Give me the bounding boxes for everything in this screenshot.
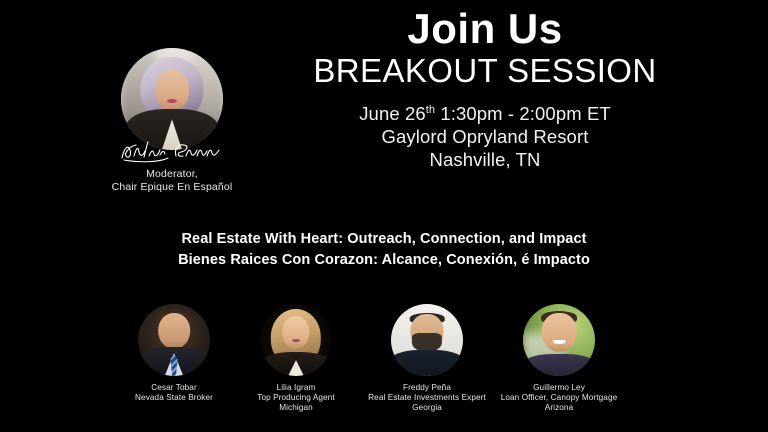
headline-join-us: Join Us — [255, 6, 715, 52]
event-time-range: 1:30pm - 2:00pm ET — [435, 103, 611, 124]
panelist-caption: Lilia Igram Top Producing Agent Michigan — [226, 383, 366, 414]
event-city-state: Nashville, TN — [255, 148, 715, 171]
panelist-avatar — [523, 304, 595, 376]
signature-hilda-garza — [96, 136, 248, 166]
moderator-role: Moderator, — [146, 168, 198, 180]
session-title-block: Real Estate With Heart: Outreach, Connec… — [64, 229, 704, 271]
panelist-row: Cesar Tobar Nevada State Broker Lilia Ig… — [104, 304, 664, 432]
headline-block: Join Us BREAKOUT SESSION June 26th 1:30p… — [255, 6, 715, 171]
panelist-avatar — [260, 304, 332, 376]
event-venue: Gaylord Opryland Resort — [255, 125, 715, 148]
panelist-role: Nevada State Broker — [104, 393, 244, 403]
panelist-guillermo-ley: Guillermo Ley Loan Officer, Canopy Mortg… — [489, 304, 629, 414]
panelist-caption: Guillermo Ley Loan Officer, Canopy Mortg… — [489, 383, 629, 414]
panelist-avatar — [138, 304, 210, 376]
panelist-lilia-igram: Lilia Igram Top Producing Agent Michigan — [226, 304, 366, 414]
panelist-caption: Freddy Peña Real Estate Investments Expe… — [357, 383, 497, 414]
panelist-role: Real Estate Investments Expert — [357, 393, 497, 403]
moderator-avatar — [121, 48, 223, 150]
event-date-ordinal: th — [426, 104, 435, 116]
panelist-name: Cesar Tobar — [104, 383, 244, 393]
flyer-canvas: Moderator, Chair Epique En Español Join … — [0, 0, 768, 432]
panelist-cesar-tobar: Cesar Tobar Nevada State Broker — [104, 304, 244, 403]
headline-breakout-session: BREAKOUT SESSION — [255, 51, 715, 91]
panelist-role: Loan Officer, Canopy Mortgage — [489, 393, 629, 403]
moderator-block: Moderator, Chair Epique En Español — [96, 48, 248, 193]
panelist-region: Arizona — [489, 403, 629, 413]
session-title-spanish: Bienes Raices Con Corazon: Alcance, Cone… — [64, 250, 704, 271]
panelist-name: Lilia Igram — [226, 383, 366, 393]
panelist-role: Top Producing Agent — [226, 393, 366, 403]
panelist-name: Freddy Peña — [357, 383, 497, 393]
panelist-region: Georgia — [357, 403, 497, 413]
event-datetime: June 26th 1:30pm - 2:00pm ET — [255, 102, 715, 125]
panelist-avatar — [391, 304, 463, 376]
panelist-name: Guillermo Ley — [489, 383, 629, 393]
panelist-freddy-pena: Freddy Peña Real Estate Investments Expe… — [357, 304, 497, 414]
event-details: June 26th 1:30pm - 2:00pm ET Gaylord Opr… — [255, 102, 715, 171]
event-date: June 26 — [359, 103, 426, 124]
moderator-caption: Moderator, Chair Epique En Español — [96, 168, 248, 193]
moderator-organization: Chair Epique En Español — [112, 181, 233, 193]
panelist-caption: Cesar Tobar Nevada State Broker — [104, 383, 244, 403]
panelist-region: Michigan — [226, 403, 366, 413]
session-title-english: Real Estate With Heart: Outreach, Connec… — [64, 229, 704, 250]
